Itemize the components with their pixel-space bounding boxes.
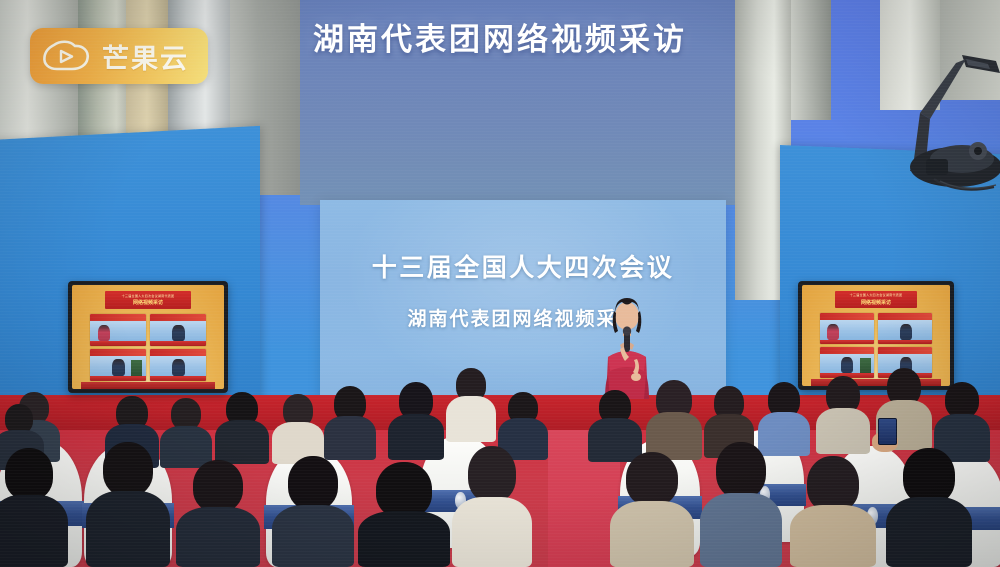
- audience-body: [790, 505, 876, 567]
- audience-body: [176, 507, 260, 567]
- audience-member: [324, 386, 376, 460]
- monitor-banner-line2: 网络视频采访: [835, 299, 918, 306]
- audience-body: [388, 414, 444, 460]
- broadcast-frame: 湖南代表团网络视频采访 芒果云 十三届全国人大四次会议 湖南代表团网络视频采访: [0, 0, 1000, 567]
- audience-member: [886, 448, 972, 567]
- monitor-tile: [820, 347, 874, 378]
- audience-body: [215, 420, 269, 464]
- audience-head: [103, 442, 153, 496]
- audience-body: [272, 505, 354, 567]
- audience-member: [272, 456, 354, 567]
- monitor-banner-line1: 十三届全国人大四次会议湖南代表团: [105, 293, 190, 298]
- monitor-tile: [878, 313, 932, 344]
- monitor-banner-line1: 十三届全国人大四次会议湖南代表团: [835, 292, 918, 297]
- audience-body: [0, 495, 68, 567]
- monitor-tile: [90, 314, 145, 346]
- audience-member: [215, 392, 269, 464]
- channel-logo: 芒果云: [30, 28, 208, 84]
- audience-body: [700, 493, 782, 567]
- audience-body: [324, 416, 376, 460]
- monitor-banner: 十三届全国人大四次会议湖南代表团 网络视频采访: [105, 291, 190, 309]
- audience-body: [358, 511, 450, 567]
- monitor-tile: [820, 313, 874, 344]
- audience-member: [388, 382, 444, 460]
- audience-member: [446, 368, 496, 442]
- audience-head: [5, 448, 53, 500]
- backdrop-subline: 湖南代表团网络视频采访: [320, 304, 726, 331]
- audience-member: [816, 376, 870, 454]
- monitor-tile: [150, 314, 205, 346]
- audience-head: [903, 448, 955, 504]
- audience-body: [86, 491, 170, 567]
- monitor-screen: 十三届全国人大四次会议湖南代表团 网络视频采访: [72, 285, 224, 389]
- channel-logo-text: 芒果云: [102, 37, 189, 76]
- audience-phone: [878, 418, 897, 445]
- audience-member: [272, 394, 324, 464]
- monitor-tile-grid: [90, 314, 206, 381]
- audience-head: [376, 462, 432, 518]
- audience-body: [886, 497, 972, 567]
- audience-body: [816, 408, 870, 454]
- audience-head: [193, 460, 243, 512]
- monitor-banner: 十三届全国人大四次会议湖南代表团 网络视频采访: [835, 291, 918, 308]
- audience-head: [807, 456, 859, 512]
- audience-member: [176, 460, 260, 567]
- audience-member: [86, 442, 170, 567]
- audience-member: [610, 452, 694, 567]
- monitor-footer-bar: [81, 382, 215, 389]
- audience-head: [288, 456, 338, 510]
- audience-member: [452, 446, 532, 567]
- camera-crane-arm: [870, 55, 1000, 200]
- audience-body: [446, 396, 496, 442]
- audience-member: [700, 442, 782, 567]
- audience-member: [646, 380, 702, 460]
- backdrop-headline: 十三届全国人大四次会议: [320, 248, 726, 284]
- monitor-tile: [90, 349, 145, 381]
- display-monitor-left: 十三届全国人大四次会议湖南代表团 网络视频采访: [68, 281, 228, 393]
- audience-head: [468, 446, 516, 502]
- audience-head: [716, 442, 766, 498]
- monitor-tile: [150, 349, 205, 381]
- audience-body: [452, 497, 532, 567]
- audience-body: [610, 501, 694, 567]
- audience-head: [945, 382, 979, 418]
- audience-member: [0, 448, 68, 567]
- cloud-play-icon: [40, 36, 94, 76]
- monitor-banner-line2: 网络视频采访: [105, 299, 190, 306]
- audience-member: [358, 462, 450, 567]
- audience-head: [626, 452, 678, 506]
- audience-member: [790, 456, 876, 567]
